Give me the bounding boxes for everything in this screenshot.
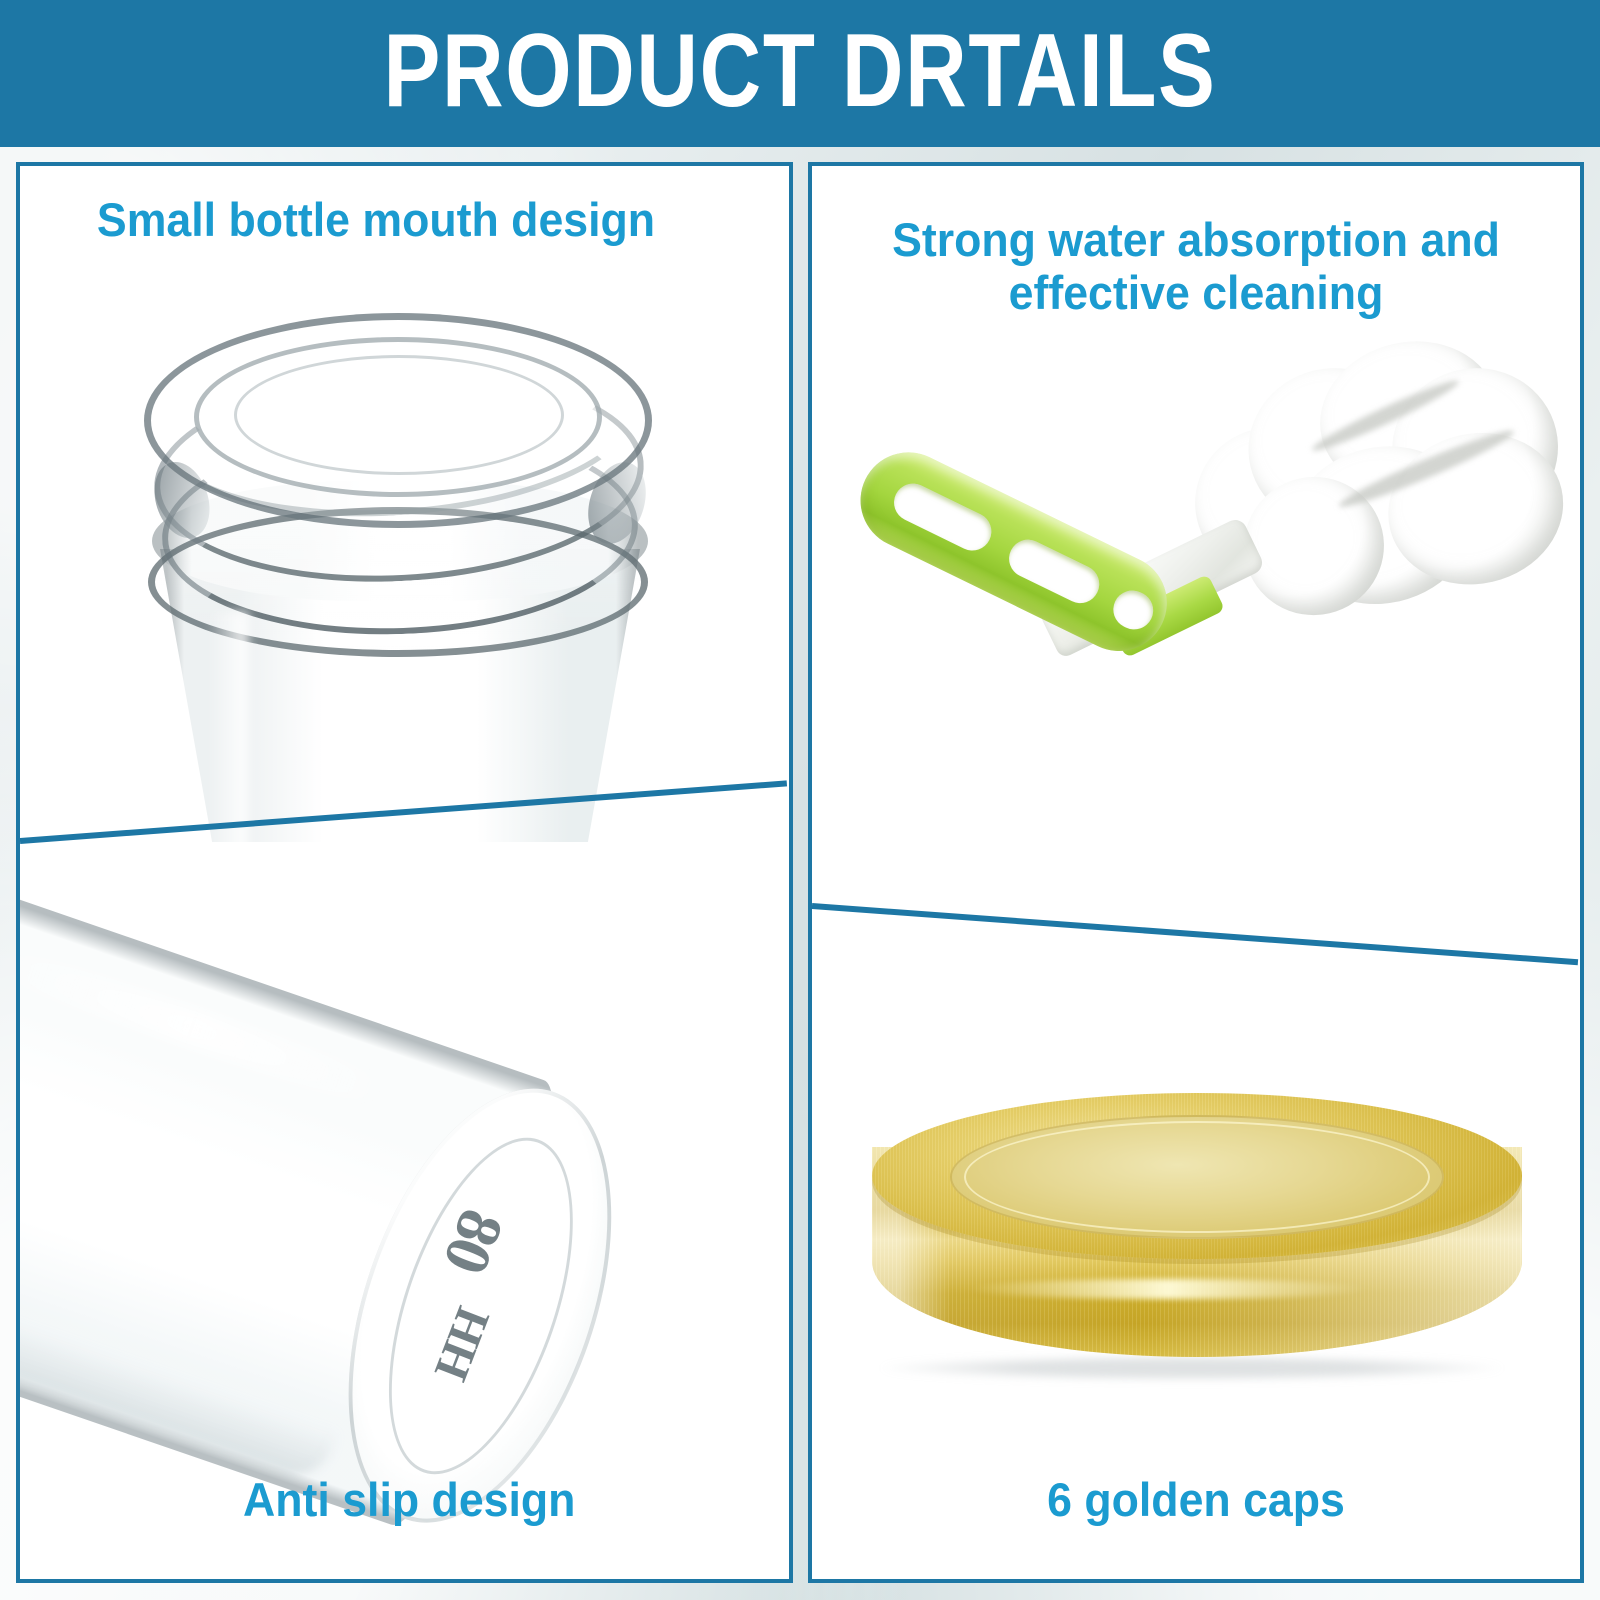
infographic-page: PRODUCT DRTAILS <box>0 0 1600 1600</box>
page-title: PRODUCT DRTAILS <box>383 19 1216 129</box>
caption-brush: Strong water absorption and effective cl… <box>831 214 1561 319</box>
panel-brush: Strong water absorption and effective cl… <box>812 166 1580 907</box>
bottle-neck-photo <box>20 166 789 842</box>
right-column: Strong water absorption and effective cl… <box>808 162 1584 1583</box>
header-banner: PRODUCT DRTAILS <box>0 0 1600 147</box>
panel-golden-caps: 6 golden caps <box>812 907 1580 1579</box>
brush-handle <box>844 436 1183 667</box>
caption-anti-slip: Anti slip design <box>39 1474 770 1527</box>
bottle-base-photo: 80 HH <box>20 842 789 1572</box>
caption-golden-caps: 6 golden caps <box>831 1474 1561 1527</box>
caption-bottle-mouth: Small bottle mouth design <box>39 194 770 247</box>
panel-bottle-mouth: Small bottle mouth design <box>20 166 789 842</box>
left-column: Small bottle mouth design 80 HH Anti sli… <box>16 162 793 1583</box>
panel-anti-slip: 80 HH Anti slip design <box>20 842 789 1579</box>
